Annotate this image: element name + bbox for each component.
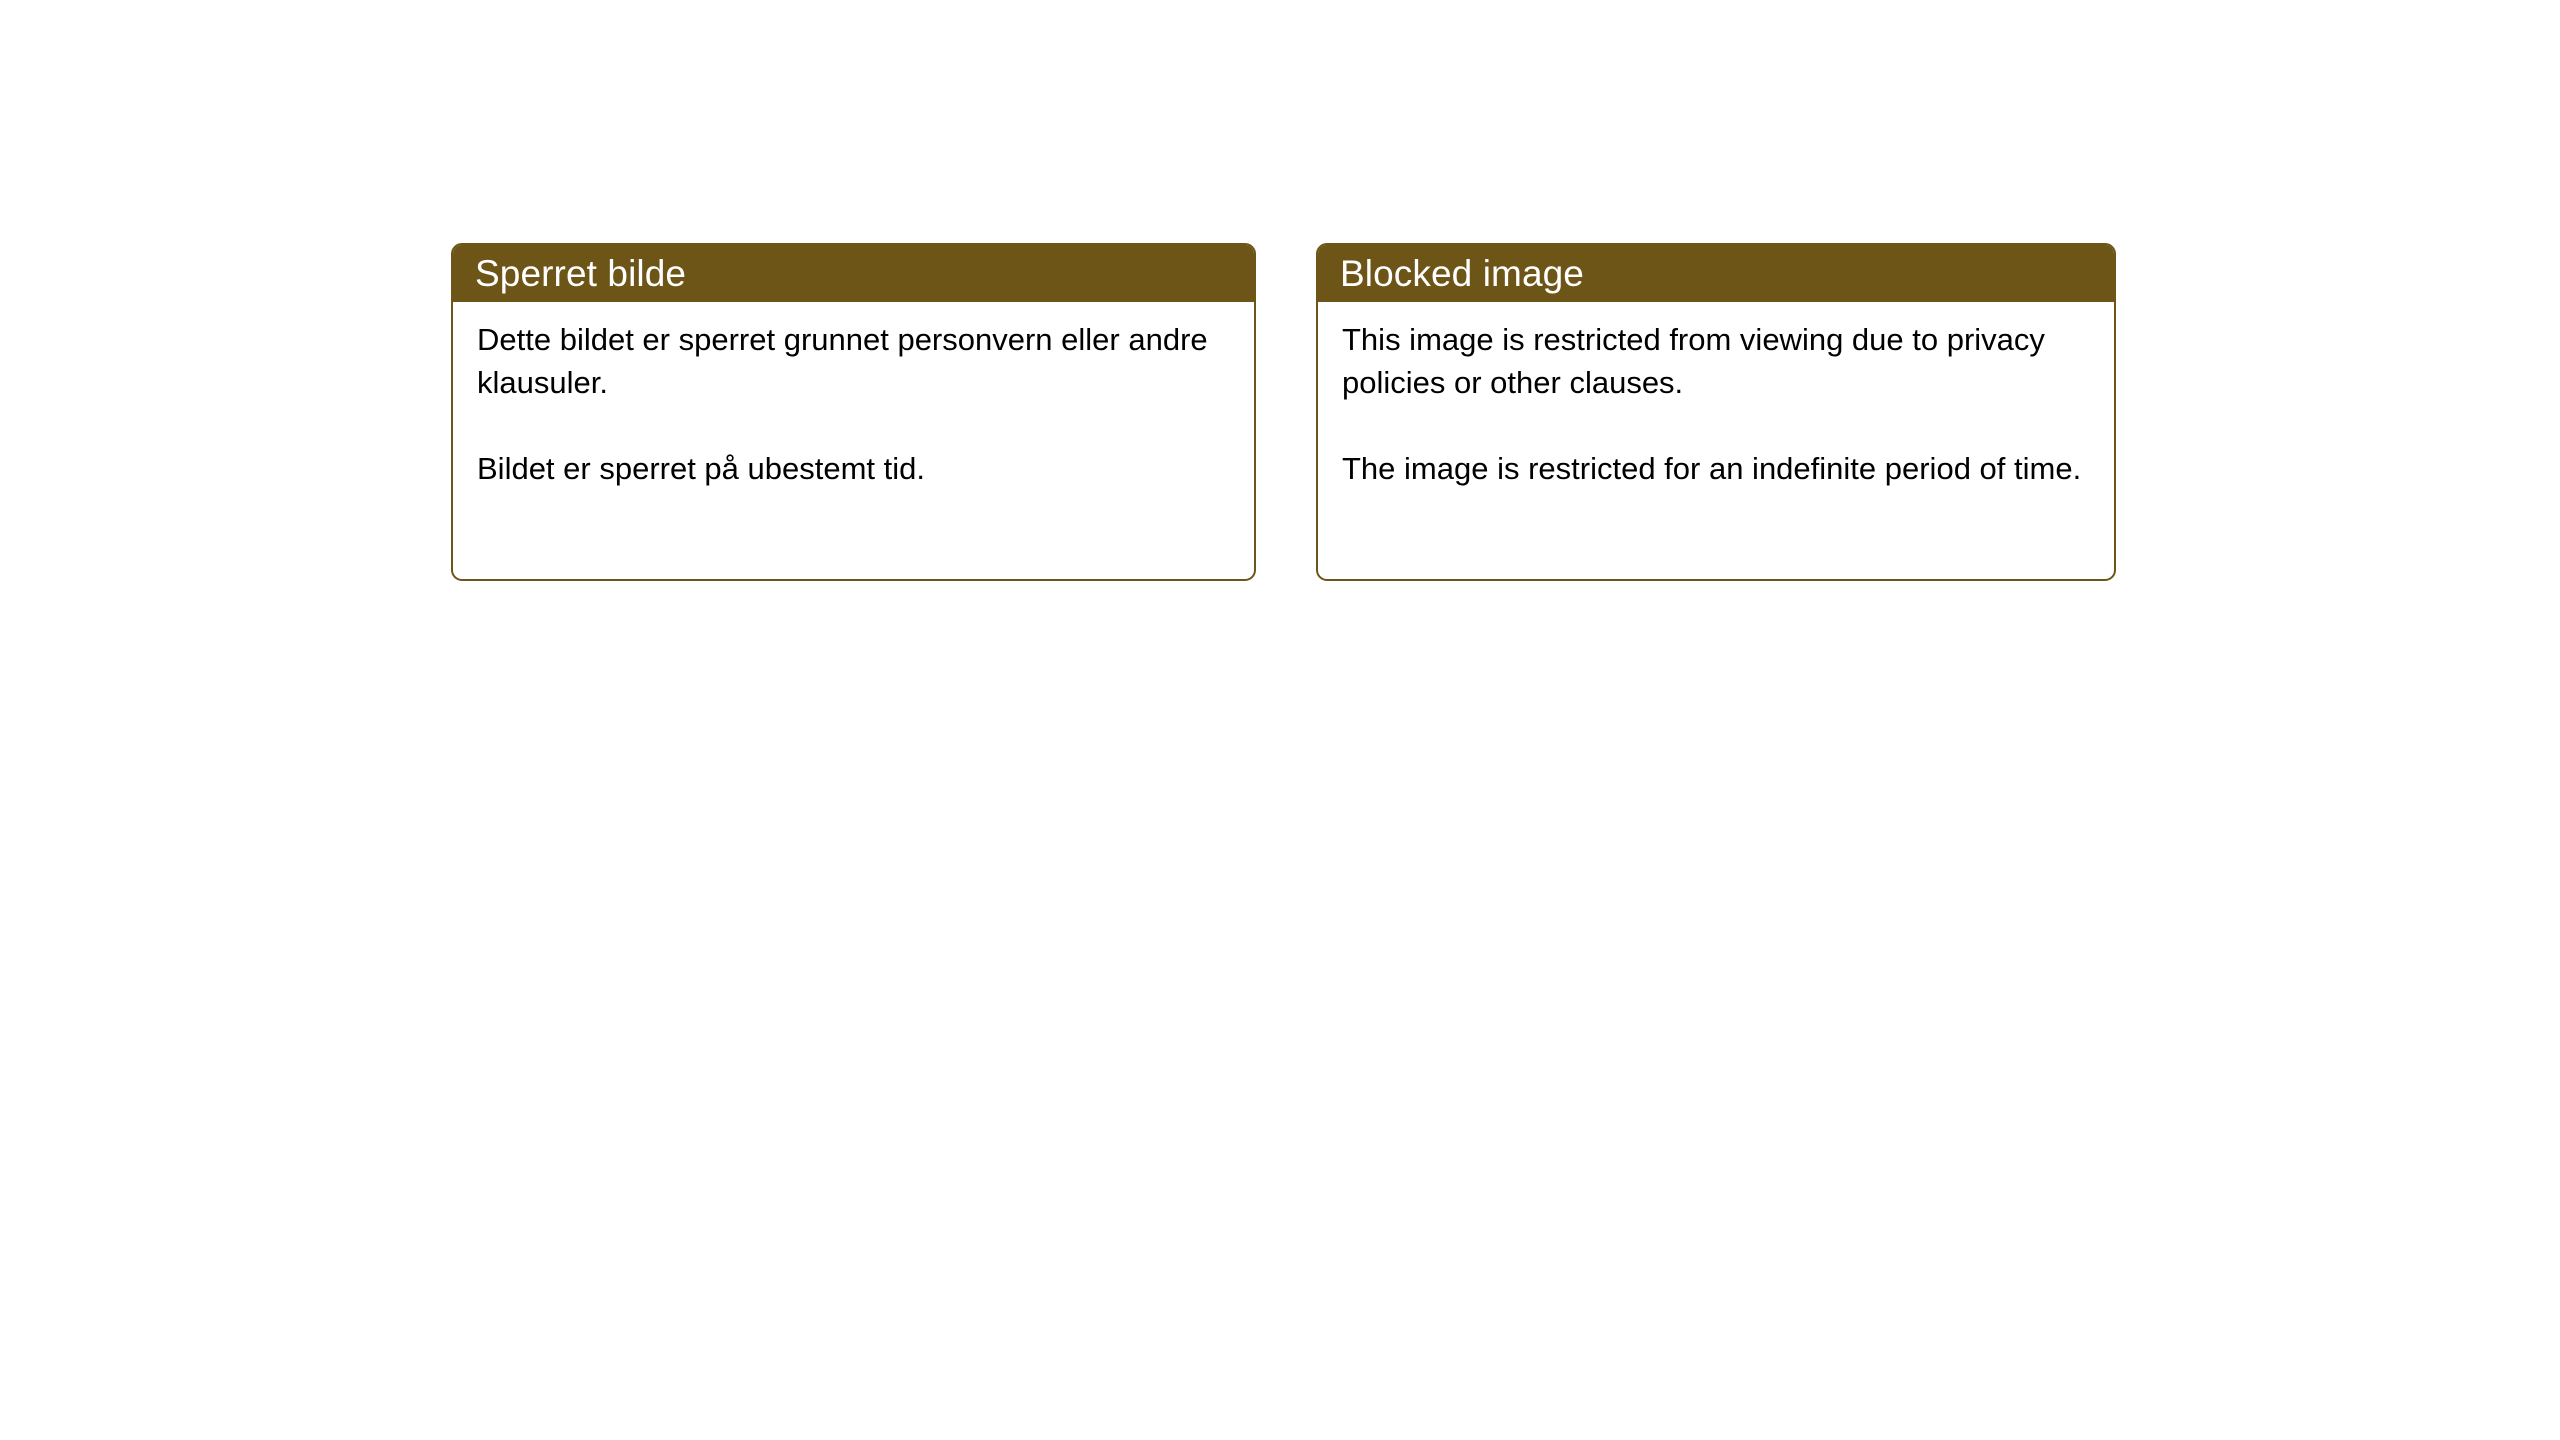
panel-body-norwegian: Dette bildet er sperret grunnet personve…: [453, 302, 1254, 490]
panel-header-english: Blocked image: [1318, 245, 2114, 302]
panel-paragraph-norwegian-2: Bildet er sperret på ubestemt tid.: [477, 447, 1230, 490]
panel-title-norwegian: Sperret bilde: [475, 255, 686, 292]
panel-paragraph-english-1: This image is restricted from viewing du…: [1342, 318, 2090, 404]
panel-body-english: This image is restricted from viewing du…: [1318, 302, 2114, 490]
blocked-image-notice-norwegian: Sperret bilde Dette bildet er sperret gr…: [451, 243, 1256, 581]
panel-paragraph-norwegian-1: Dette bildet er sperret grunnet personve…: [477, 318, 1230, 404]
panel-header-norwegian: Sperret bilde: [453, 245, 1254, 302]
panel-paragraph-english-2: The image is restricted for an indefinit…: [1342, 447, 2090, 490]
panel-title-english: Blocked image: [1340, 255, 1584, 292]
blocked-image-notice-english: Blocked image This image is restricted f…: [1316, 243, 2116, 581]
page-canvas: Sperret bilde Dette bildet er sperret gr…: [0, 0, 2560, 1440]
